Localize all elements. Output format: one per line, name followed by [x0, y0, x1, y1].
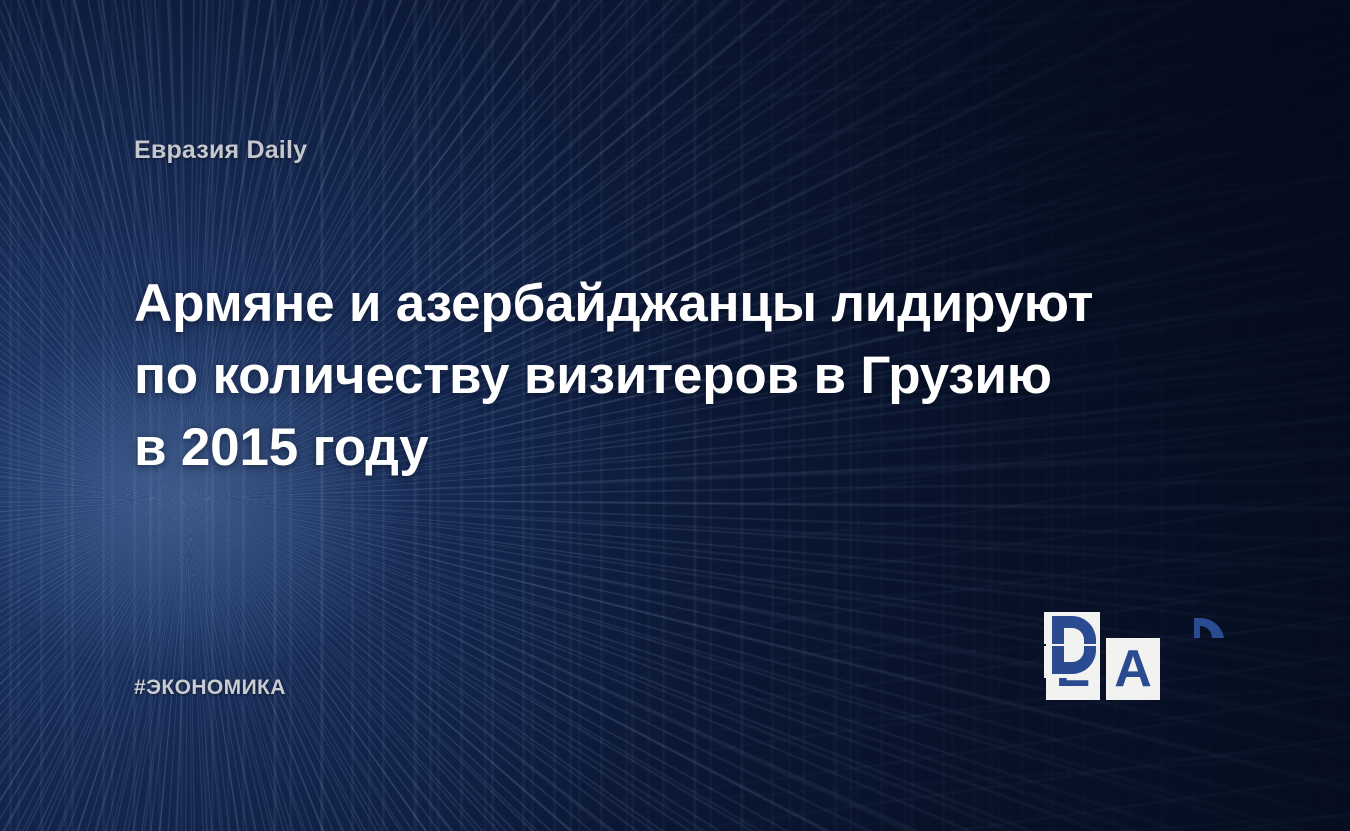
publication-name: Евразия Daily: [134, 136, 307, 165]
headline-line-1: Армяне и азербайджанцы лидируют: [134, 268, 1144, 340]
headline-line-3: в 2015 году: [134, 412, 1144, 484]
article-headline: Армяне и азербайджанцы лидируют по колич…: [134, 268, 1144, 484]
logo-d-lower-half: [1044, 646, 1100, 678]
section-hashtag[interactable]: #ЭКОНОМИКА: [134, 676, 286, 700]
headline-line-2: по количеству визитеров в Грузию: [134, 340, 1144, 412]
eadaily-logo: E A: [1044, 612, 1228, 704]
logo-tile-a: A: [1106, 638, 1160, 700]
logo-d-upper-arc: [1194, 618, 1224, 638]
social-share-card: Евразия Daily Армяне и азербайджанцы лид…: [0, 0, 1350, 831]
logo-d-upper-half: [1044, 612, 1100, 644]
